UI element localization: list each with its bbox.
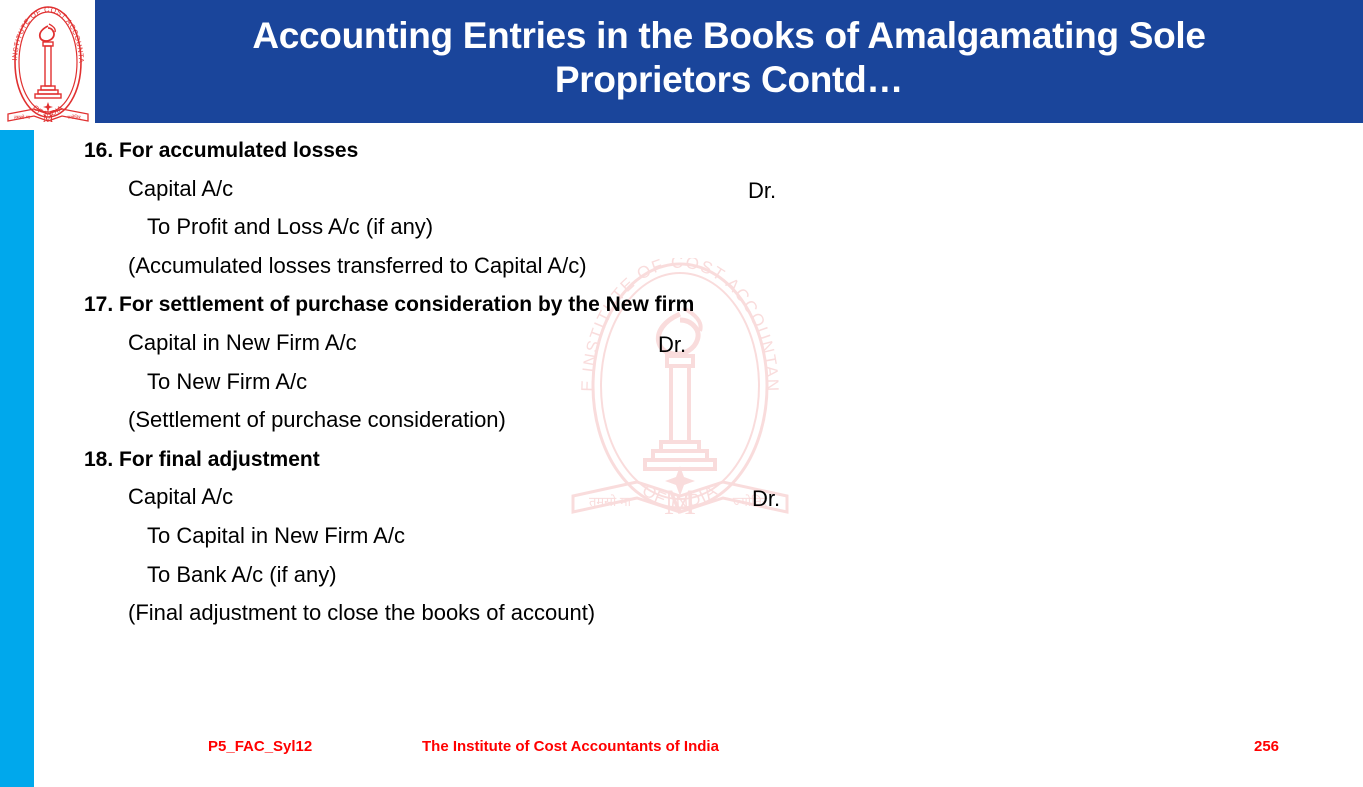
entry-account-line: To Capital in New Firm A/c — [147, 525, 405, 547]
entry-title: For settlement of purchase consideration… — [113, 293, 694, 316]
svg-text:M: M — [43, 111, 54, 124]
entry-account-line: To Bank A/c (if any) — [147, 564, 337, 586]
footer-page-number: 256 — [1254, 738, 1279, 755]
svg-text:ज्योतिर्: ज्योतिर् — [67, 114, 81, 121]
entry-heading: 16. For accumulated losses — [84, 140, 358, 161]
debit-marker: Dr. — [748, 178, 776, 204]
entry-account-line: Capital in New Firm A/c — [128, 332, 357, 354]
entry-title: For final adjustment — [113, 448, 320, 471]
entry-account-line: Capital A/c — [128, 486, 233, 508]
entry-narration: (Settlement of purchase consideration) — [128, 409, 506, 431]
entry-number: 18. — [84, 448, 113, 471]
slide-footer: P5_FAC_Syl12 The Institute of Cost Accou… — [0, 738, 1363, 766]
page-title: Accounting Entries in the Books of Amalg… — [115, 14, 1343, 101]
entry-number: 17. — [84, 293, 113, 316]
institute-logo: THE INSTITUTE OF COST ACCOUNTANTS OF IND… — [4, 2, 92, 124]
entry-account-line: Capital A/c — [128, 178, 233, 200]
svg-text:तमसो मा: तमसो मा — [14, 114, 31, 121]
debit-marker: Dr. — [752, 486, 780, 512]
page-title-line2: Proprietors Contd… — [115, 58, 1343, 102]
debit-marker: Dr. — [658, 332, 686, 358]
entry-account-line: To New Firm A/c — [147, 371, 307, 393]
entry-title: For accumulated losses — [113, 139, 358, 162]
entry-narration: (Final adjustment to close the books of … — [128, 602, 595, 624]
entry-heading: 18. For final adjustment — [84, 449, 320, 470]
footer-organisation: The Institute of Cost Accountants of Ind… — [422, 738, 719, 755]
page-title-line1: Accounting Entries in the Books of Amalg… — [115, 14, 1343, 58]
slide-header-bar: Accounting Entries in the Books of Amalg… — [95, 0, 1363, 123]
entry-account-line: To Profit and Loss A/c (if any) — [147, 216, 433, 238]
entry-narration: (Accumulated losses transferred to Capit… — [128, 255, 587, 277]
slide-body: 16. For accumulated lossesCapital A/cDr.… — [0, 133, 1363, 693]
entry-heading: 17. For settlement of purchase considera… — [84, 294, 694, 315]
entry-number: 16. — [84, 139, 113, 162]
slide-root: THE INSTITUTE OF COST ACCOUNTANTS OF IND… — [0, 0, 1363, 787]
footer-subject-code: P5_FAC_Syl12 — [208, 738, 312, 755]
